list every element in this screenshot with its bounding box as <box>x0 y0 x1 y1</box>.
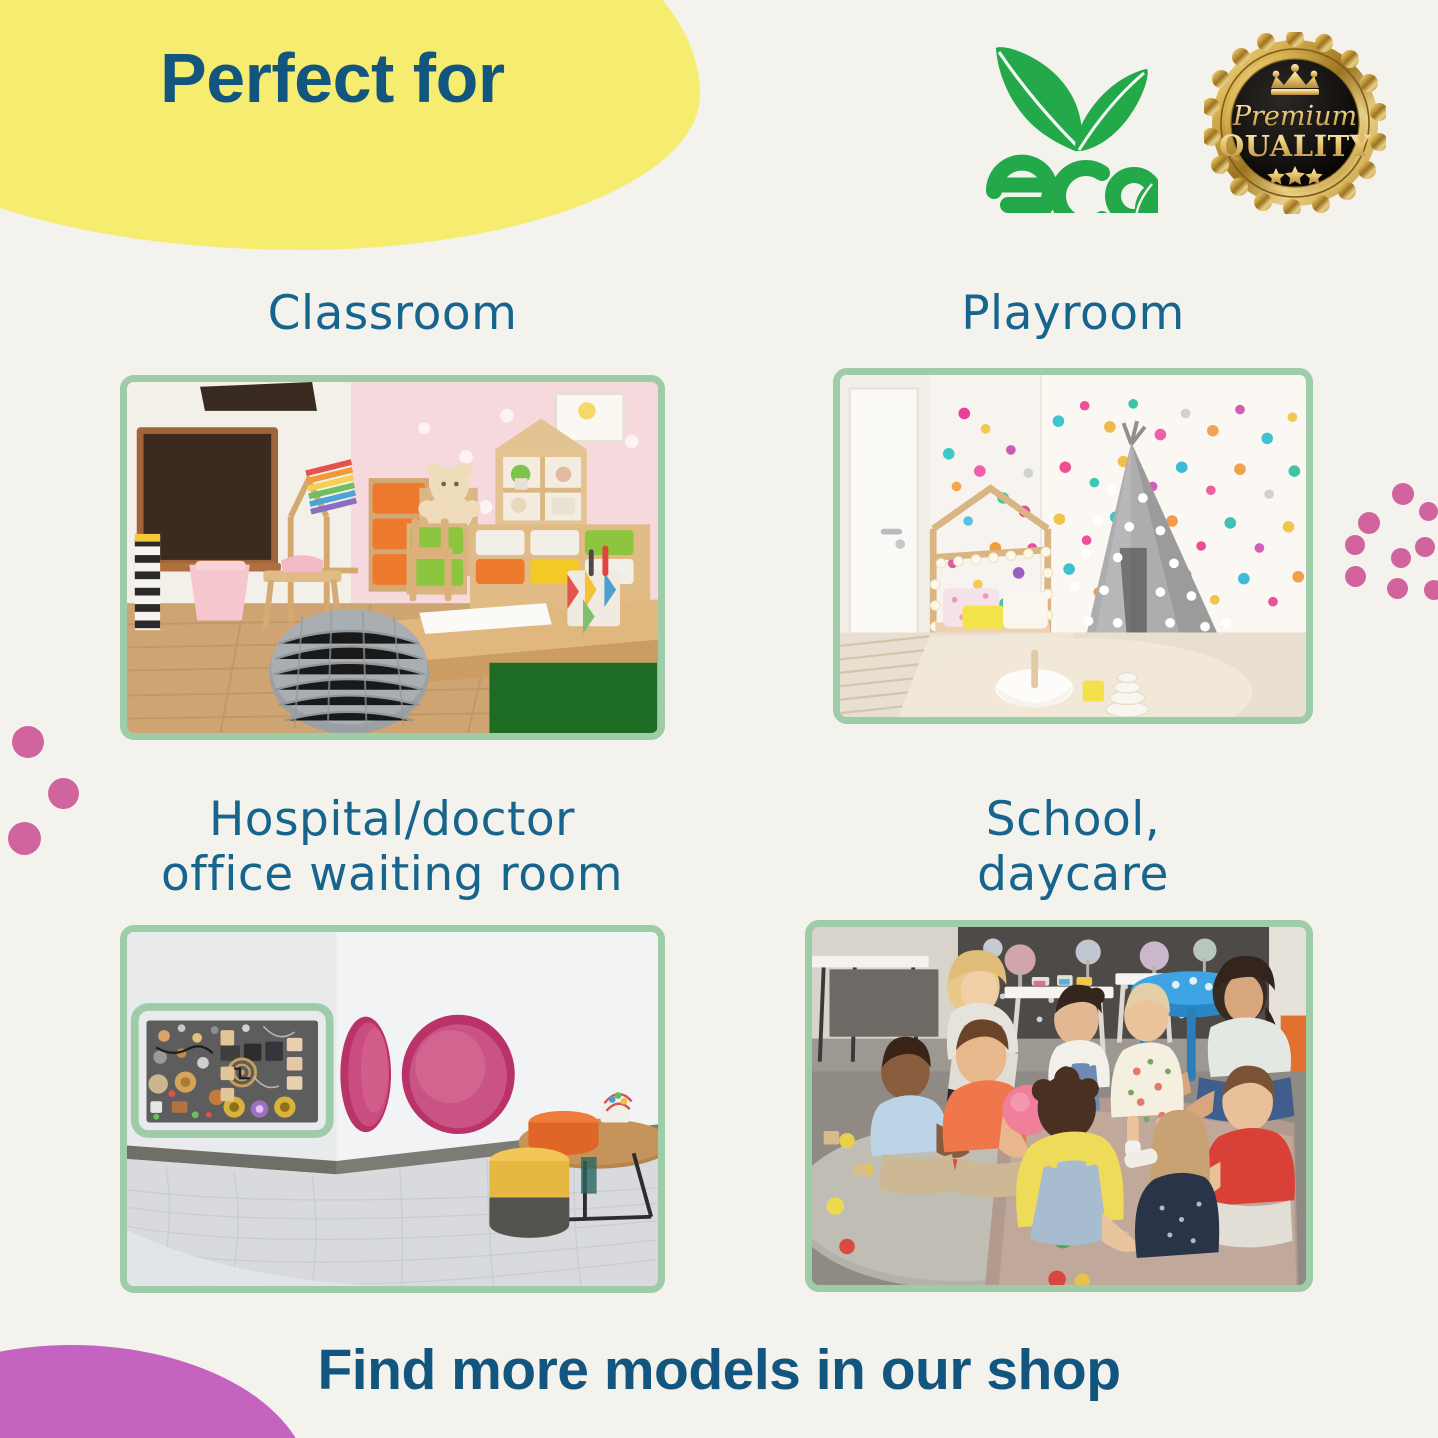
decorative-dot <box>1392 483 1414 505</box>
decorative-dot <box>1419 502 1438 521</box>
decorative-dot <box>1387 578 1408 599</box>
card-label-playroom: Playroom <box>833 286 1313 341</box>
card-label-waiting-room-line2: office waiting room <box>112 847 672 902</box>
decorative-dot <box>1415 537 1435 557</box>
card-label-school-daycare-line1: School, <box>833 792 1313 847</box>
card-label-school-daycare: School, daycare <box>833 792 1313 903</box>
premium-quality-badge: Premium QUALITY <box>1204 32 1386 214</box>
footer-cta: Find more models in our shop <box>0 1337 1438 1403</box>
card-label-waiting-room-line1: Hospital/doctor <box>112 792 672 847</box>
svg-text:Premium: Premium <box>1232 101 1357 132</box>
decorative-dot <box>48 778 79 809</box>
playroom-photo <box>833 368 1313 724</box>
yellow-blob-shape <box>0 0 700 250</box>
decorative-dot <box>1358 512 1380 534</box>
card-label-classroom: Classroom <box>120 286 665 341</box>
eco-leaf-icon <box>986 33 1158 213</box>
daycare-photo <box>805 920 1313 1292</box>
premium-quality-seal-icon: Premium QUALITY <box>1204 32 1386 214</box>
decorative-dot <box>1345 535 1365 555</box>
svg-text:QUALITY: QUALITY <box>1219 129 1371 163</box>
page-title: Perfect for <box>160 42 505 116</box>
decorative-dot <box>8 822 41 855</box>
card-label-waiting-room: Hospital/doctor office waiting room <box>112 792 672 903</box>
badge-row: Premium QUALITY <box>986 32 1386 214</box>
card-label-school-daycare-line2: daycare <box>833 847 1313 902</box>
decorative-dot <box>12 726 44 758</box>
decorative-dot <box>1424 580 1438 600</box>
classroom-photo <box>120 375 665 740</box>
poster-canvas: Perfect for <box>0 0 1438 1438</box>
eco-badge <box>986 33 1158 213</box>
waiting-room-photo <box>120 925 665 1293</box>
decorative-dot <box>1345 566 1366 587</box>
decorative-dot <box>1391 548 1411 568</box>
